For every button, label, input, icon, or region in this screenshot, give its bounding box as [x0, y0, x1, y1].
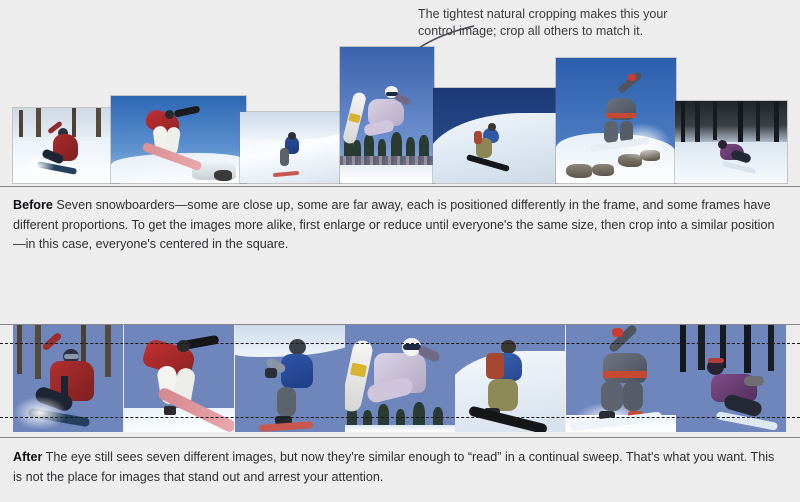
callout-line-1: The tightest natural cropping makes this… [418, 6, 748, 23]
before-photo-4-control[interactable] [340, 47, 434, 183]
before-image-strip [0, 40, 800, 186]
callout-line-2: control image; crop all others to match … [418, 23, 748, 40]
before-caption-text: Seven snowboarders—some are close up, so… [13, 198, 774, 251]
alignment-guide-top [0, 343, 800, 344]
page-root: The tightest natural cropping makes this… [0, 0, 800, 502]
after-image-strip [0, 325, 800, 437]
after-photo-5[interactable] [455, 325, 565, 432]
alignment-guide-bottom [0, 417, 800, 418]
before-photo-2[interactable] [111, 96, 246, 183]
after-photo-6[interactable] [566, 325, 676, 432]
before-photo-6[interactable] [556, 58, 676, 183]
after-caption: After The eye still sees seven different… [13, 448, 785, 487]
before-photo-5[interactable] [433, 88, 557, 183]
after-photo-1[interactable] [13, 325, 123, 432]
before-label: Before [13, 198, 53, 212]
after-label: After [13, 450, 42, 464]
after-photo-3[interactable] [235, 325, 345, 432]
before-photo-3[interactable] [240, 112, 341, 183]
after-photo-2[interactable] [124, 325, 234, 432]
before-caption: Before Seven snowboarders—some are close… [13, 196, 785, 255]
before-photo-7[interactable] [675, 101, 787, 183]
after-photo-4-control[interactable] [345, 325, 455, 432]
after-photo-7[interactable] [676, 325, 786, 432]
control-image-callout: The tightest natural cropping makes this… [418, 6, 748, 40]
divider-below-before-strip [0, 186, 800, 187]
after-caption-text: The eye still sees seven different image… [13, 450, 774, 484]
before-photo-1[interactable] [13, 108, 119, 183]
divider-below-after-strip [0, 437, 800, 438]
